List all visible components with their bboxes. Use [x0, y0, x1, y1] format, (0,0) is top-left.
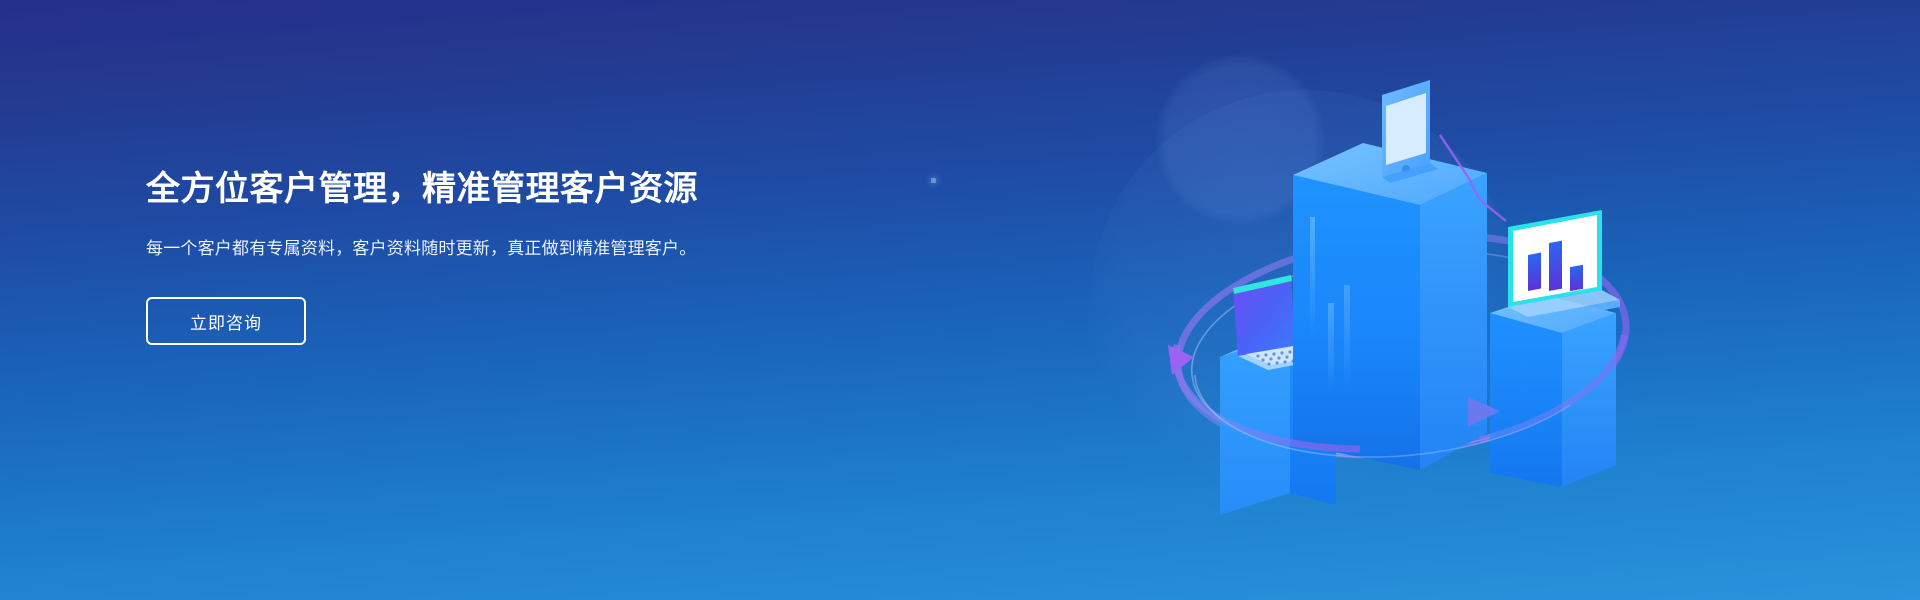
page-title: 全方位客户管理，精准管理客户资源	[146, 168, 786, 210]
sparkle-dot-icon	[931, 178, 936, 183]
hero-copy-block: 全方位客户管理，精准管理客户资源 每一个客户都有专属资料，客户资料随时更新，真正…	[146, 168, 786, 345]
hero-banner: 全方位客户管理，精准管理客户资源 每一个客户都有专属资料，客户资料随时更新，真正…	[0, 0, 1920, 600]
monitor-chart-icon	[1508, 208, 1620, 324]
tablet-pillar	[1293, 143, 1487, 470]
monitor-pillar	[1490, 295, 1616, 487]
hero-subtitle: 每一个客户都有专属资料，客户资料随时更新，真正做到精准管理客户。	[146, 236, 736, 261]
tablet-icon	[1382, 80, 1438, 183]
consult-now-button[interactable]: 立即咨询	[146, 297, 306, 345]
hero-illustration	[1150, 45, 1650, 595]
